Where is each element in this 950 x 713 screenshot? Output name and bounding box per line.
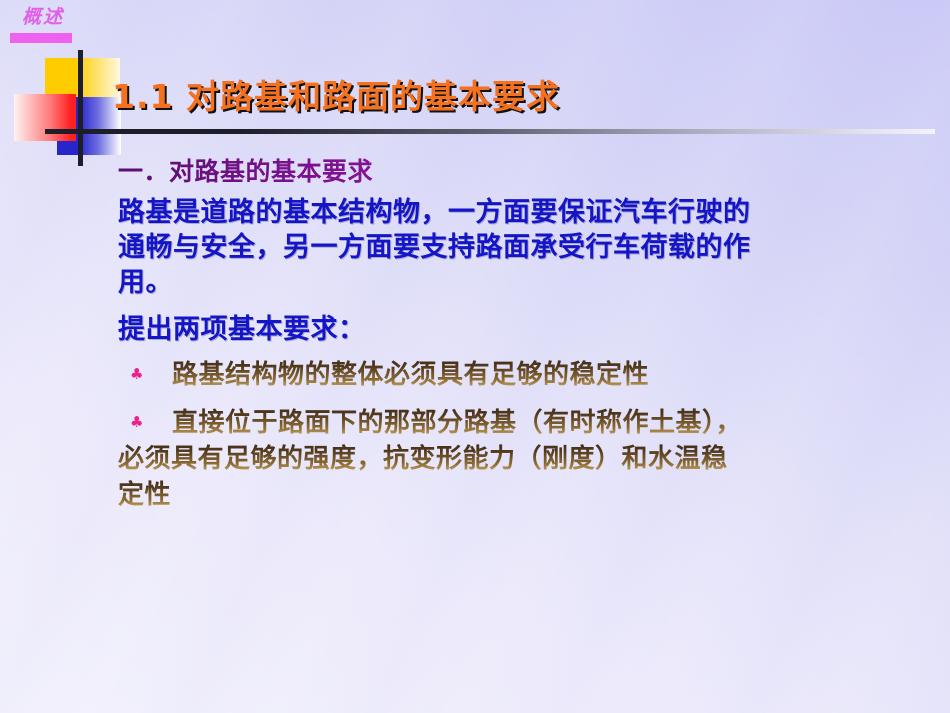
slide-body: 一．对路基的基本要求 路基是道路的基本结构物，一方面要保证汽车行驶的 通畅与安全…	[118, 155, 938, 513]
list-item-line: 必须具有足够的强度，抗变形能力（刚度）和水温稳	[118, 441, 938, 477]
club-bullet-icon: ♣	[118, 405, 172, 439]
slide-canvas: 概述 1.1 对路基和路面的基本要求 一．对路基的基本要求 路基是道路的基本结构…	[0, 0, 950, 713]
body-paragraph-line: 路基是道路的基本结构物，一方面要保证汽车行驶的	[118, 195, 938, 230]
requirements-lead-in: 提出两项基本要求：	[118, 312, 938, 347]
page-title: 1.1 对路基和路面的基本要求	[112, 76, 560, 118]
body-paragraph-line: 用。	[118, 265, 938, 300]
body-paragraph-line: 通畅与安全，另一方面要支持路面承受行车荷载的作	[118, 230, 938, 265]
list-item-line: 直接位于路面下的那部分路基（有时称作土基），	[172, 405, 938, 441]
vertical-rule-divider	[78, 50, 83, 166]
corner-tag: 概述	[10, 6, 76, 43]
horizontal-rule-divider	[45, 129, 935, 134]
list-item: ♣ 路基结构物的整体必须具有足够的稳定性	[118, 357, 938, 393]
section-subheading: 一．对路基的基本要求	[118, 155, 938, 189]
list-item-line: 路基结构物的整体必须具有足够的稳定性	[172, 357, 938, 393]
list-item-body: 直接位于路面下的那部分路基（有时称作土基）， 必须具有足够的强度，抗变形能力（刚…	[172, 405, 938, 513]
club-bullet-icon: ♣	[118, 357, 172, 391]
list-item: ♣ 直接位于路面下的那部分路基（有时称作土基）， 必须具有足够的强度，抗变形能力…	[118, 405, 938, 513]
corner-tag-underline-bar	[10, 33, 72, 43]
list-item-body: 路基结构物的整体必须具有足够的稳定性	[172, 357, 938, 393]
list-item-line: 定性	[118, 477, 938, 513]
corner-tag-label: 概述	[10, 6, 76, 29]
